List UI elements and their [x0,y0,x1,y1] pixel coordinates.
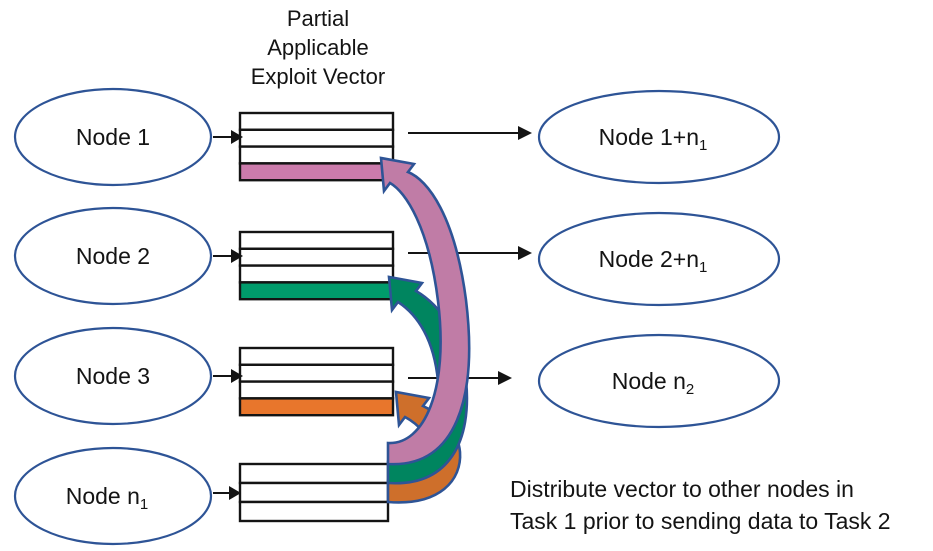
caption-line-2: Task 1 prior to sending data to Task 2 [510,508,891,534]
caption-layer: Distribute vector to other nodes in Task… [0,0,933,551]
diagram-canvas: Partial Applicable Exploit Vector Node 1… [0,0,933,551]
caption-line-1: Distribute vector to other nodes in [510,476,854,502]
